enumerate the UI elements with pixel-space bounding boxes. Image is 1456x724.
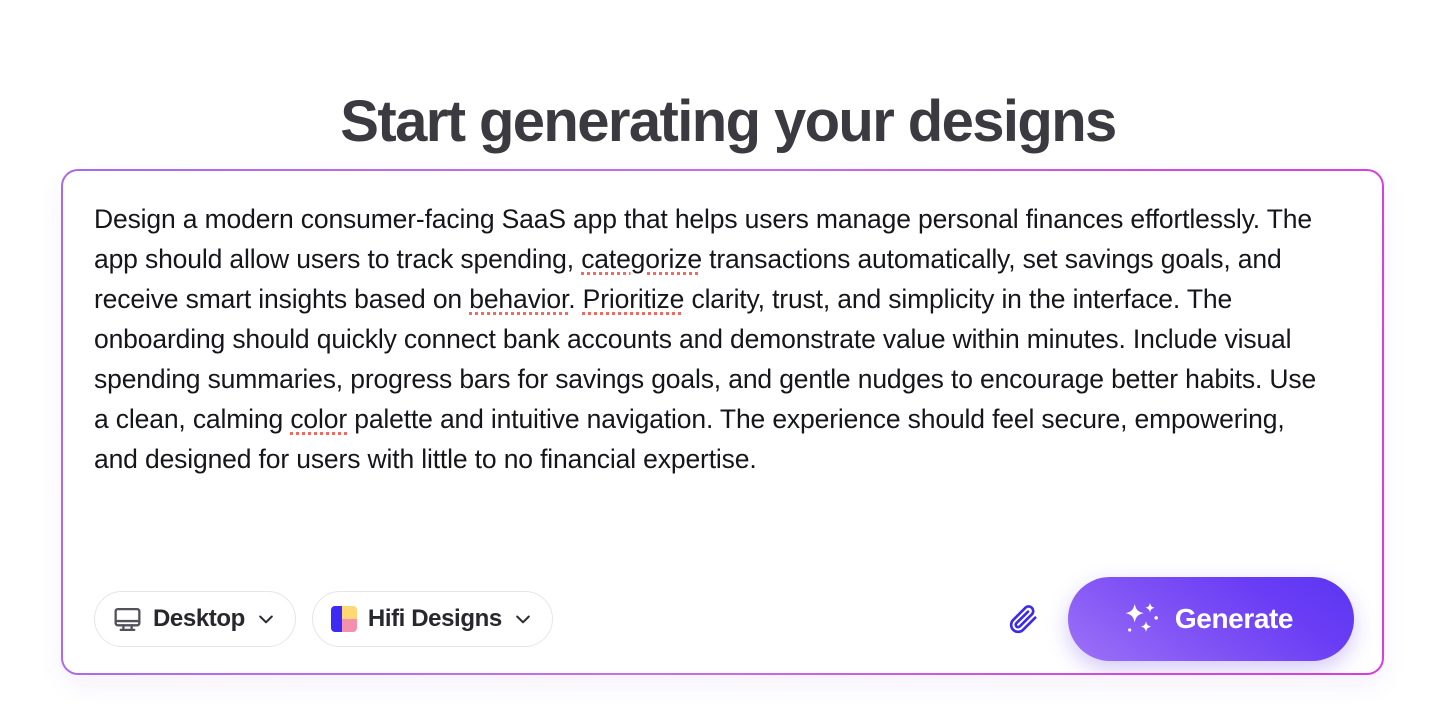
toolbar-left-group: Desktop — [94, 591, 553, 647]
misspelled-word: Prioritize — [583, 284, 685, 314]
toolbar-right-group: Generate — [1004, 577, 1354, 661]
device-selector-label: Desktop — [153, 605, 245, 633]
prompt-textarea[interactable]: Design a modern consumer-facing SaaS app… — [94, 199, 1326, 479]
device-selector-dropdown[interactable]: Desktop — [94, 591, 296, 647]
generate-designs-page: Start generating your designs Design a m… — [0, 0, 1456, 724]
page-title: Start generating your designs — [0, 87, 1456, 157]
color-swatch-icon — [331, 606, 357, 632]
misspelled-word: categorize — [581, 244, 702, 274]
style-selector-label: Hifi Designs — [368, 605, 502, 633]
style-selector-dropdown[interactable]: Hifi Designs — [312, 591, 553, 647]
chevron-down-icon — [256, 609, 276, 629]
prompt-toolbar: Desktop — [94, 587, 1354, 651]
misspelled-word: color — [290, 404, 347, 434]
prompt-card-inner: Design a modern consumer-facing SaaS app… — [63, 171, 1382, 673]
generate-button[interactable]: Generate — [1068, 577, 1354, 661]
sparkles-icon — [1121, 599, 1161, 639]
prompt-card: Design a modern consumer-facing SaaS app… — [61, 169, 1384, 675]
attach-file-button[interactable] — [1004, 599, 1044, 639]
paperclip-icon — [1008, 603, 1040, 635]
monitor-icon — [113, 605, 142, 634]
misspelled-word: behavior — [469, 284, 568, 314]
generate-button-label: Generate — [1175, 603, 1293, 635]
chevron-down-icon — [513, 609, 533, 629]
